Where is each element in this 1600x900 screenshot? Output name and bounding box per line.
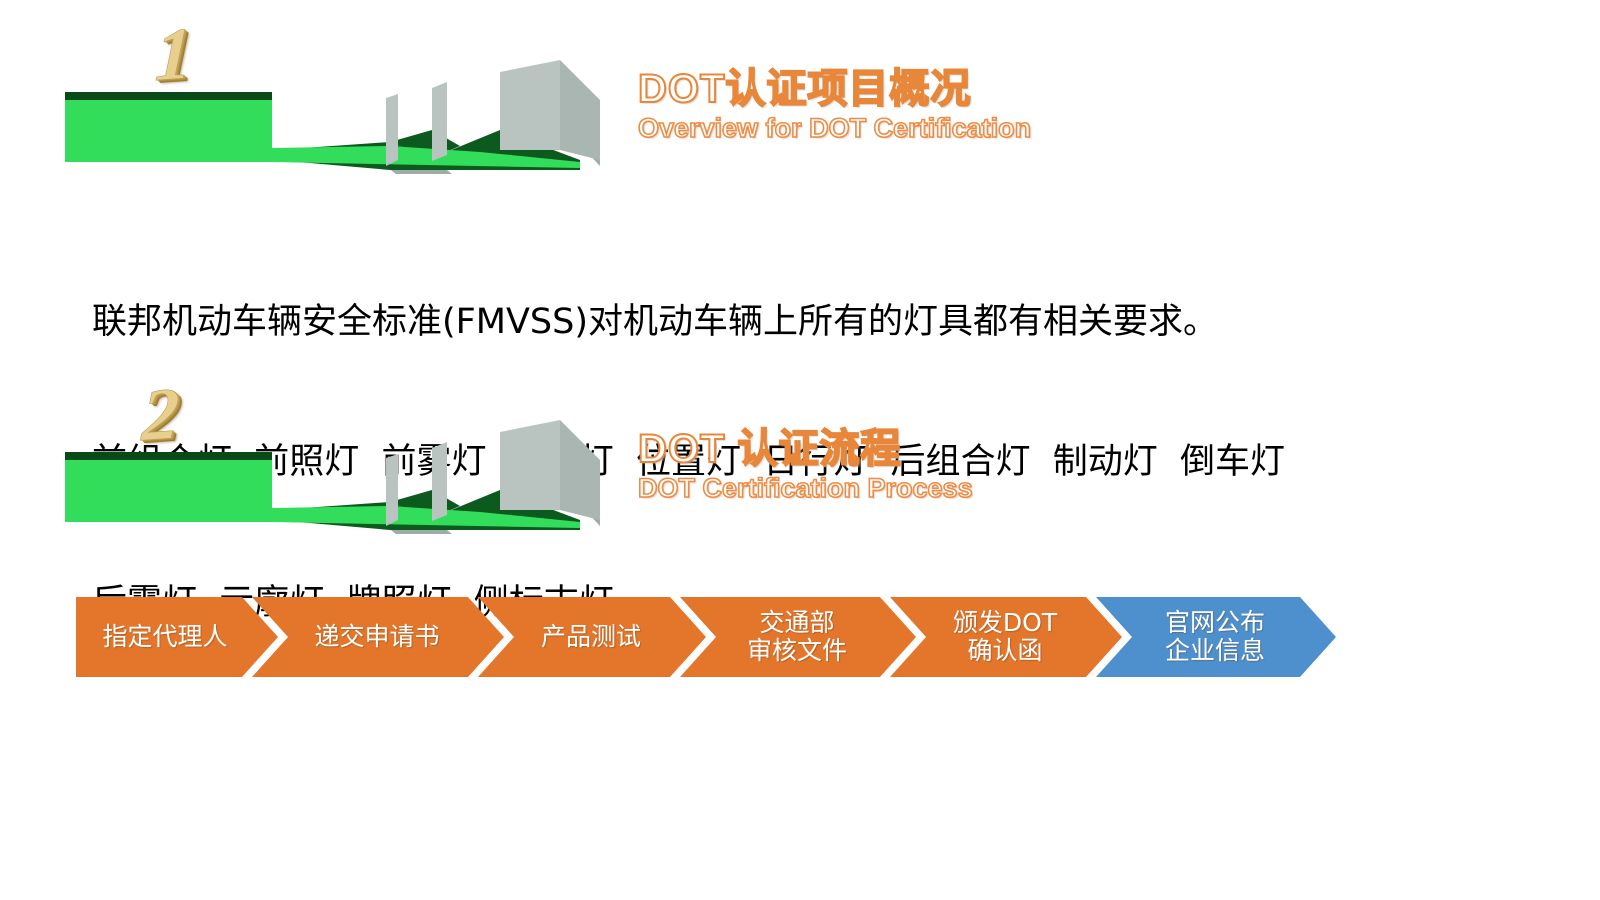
section-title-en-1: Overview for DOT Certification (638, 114, 1031, 144)
section-number-2: 2 (141, 377, 181, 453)
section-number-1: 1 (154, 17, 194, 93)
section-graphic-1: 1 (60, 10, 620, 180)
process-step-label: 官网公布 企业信息 (1143, 609, 1289, 666)
section-title-en-2: DOT Certification Process (638, 474, 973, 504)
section-title-cn-2: DOT 认证流程 (638, 428, 973, 470)
section-heading-1: DOT认证项目概况 Overview for DOT Certification (638, 68, 1031, 144)
process-step-label: 产品测试 (519, 623, 665, 652)
process-step-label: 指定代理人 (102, 623, 251, 652)
process-step-1[interactable]: 指定代理人 (76, 597, 278, 677)
process-step-label: 交通部 审核文件 (725, 609, 871, 666)
process-step-6[interactable]: 官网公布 企业信息 (1096, 597, 1336, 677)
process-step-label: 颁发DOT 确认函 (931, 609, 1081, 666)
section-graphic-2: 2 (60, 370, 620, 540)
section-title-cn-1: DOT认证项目概况 (638, 68, 1031, 110)
process-step-label: 递交申请书 (292, 623, 463, 652)
section-heading-2: DOT 认证流程 DOT Certification Process (638, 428, 973, 504)
slide-canvas: 1 DOT认证项目概况 Overview for DOT Certificati… (0, 0, 1600, 900)
ribbon-illustration-icon (60, 10, 620, 180)
body-line-1: 联邦机动车辆安全标准(FMVSS)对机动车辆上所有的灯具都有相关要求。 (92, 299, 1512, 346)
process-step-2[interactable]: 递交申请书 (252, 597, 504, 677)
